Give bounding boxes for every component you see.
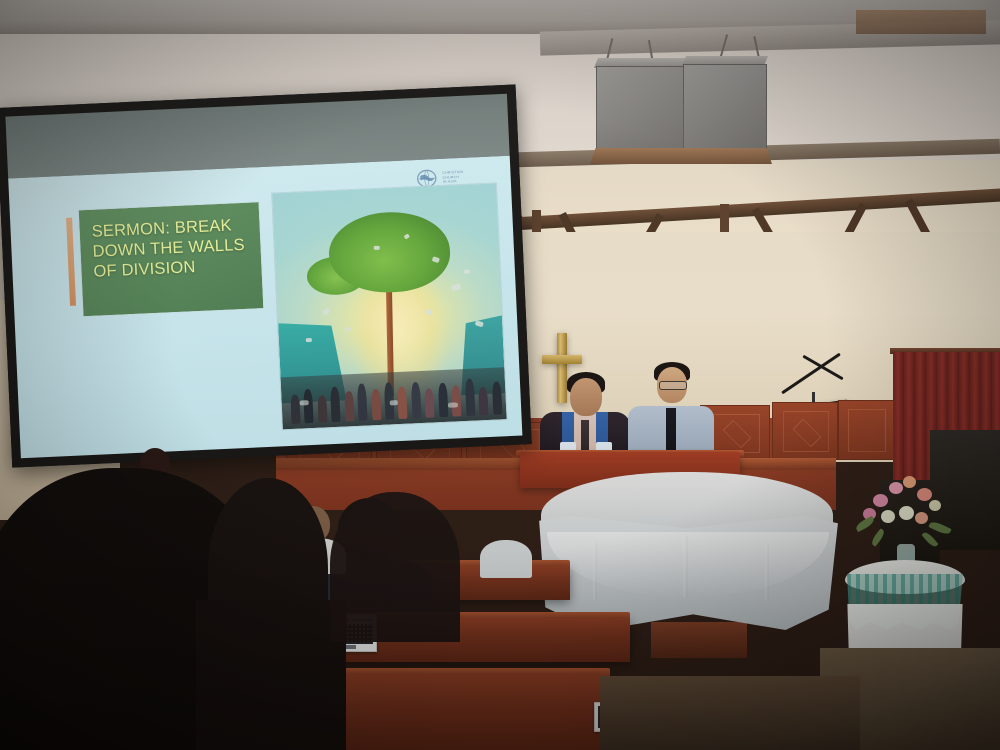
flower [881, 510, 895, 523]
flower [873, 494, 888, 507]
flower [917, 488, 932, 501]
communion-table-base [651, 622, 747, 658]
sermon-slide: CHRISTIAN CHURCH IN ASIA SERMON: BREAK D… [8, 156, 522, 458]
flower [903, 476, 916, 488]
cloth-fold [765, 544, 769, 600]
cross-horizontal [542, 355, 582, 364]
cloth-fold [593, 542, 597, 600]
slide-accent-bar [66, 218, 76, 306]
flower [929, 500, 941, 511]
ceiling-speaker [683, 64, 767, 154]
speaker-mount-secondary [856, 10, 986, 34]
flower [915, 512, 928, 524]
flower [899, 506, 914, 520]
tree-breaking-wall-illustration [271, 182, 508, 430]
flower [889, 482, 903, 494]
cloth-fold [683, 536, 688, 598]
slide-title: SERMON: BREAK DOWN THE WALLS OF DIVISION [91, 215, 246, 282]
congregant-foreground-right [330, 492, 460, 642]
wood-panel [838, 400, 894, 460]
sanctuary-photo: CHRISTIAN CHURCH IN ASIA SERMON: BREAK D… [0, 0, 1000, 750]
aisle-floor [600, 676, 860, 750]
wood-panel [772, 402, 838, 460]
projection-screen: CHRISTIAN CHURCH IN ASIA SERMON: BREAK D… [0, 84, 532, 467]
speaker-left-head [570, 378, 602, 416]
slide-title-box: SERMON: BREAK DOWN THE WALLS OF DIVISION [78, 201, 265, 317]
speaker-mount [590, 148, 772, 164]
ceiling-speaker [596, 66, 684, 156]
church-logo-text: CHRISTIAN CHURCH IN ASIA [442, 170, 464, 185]
glasses-icon [659, 381, 687, 390]
congregant-foreground-mid-shoulders [196, 600, 346, 750]
